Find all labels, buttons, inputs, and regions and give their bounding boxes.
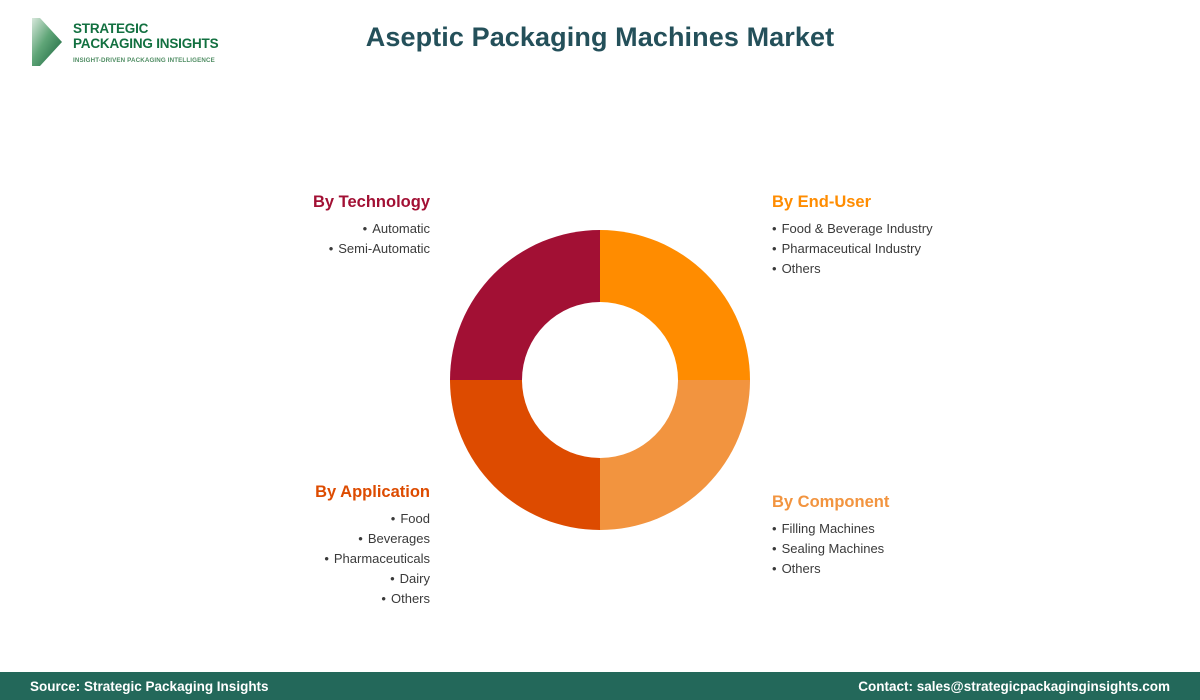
segment-title-application: By Application [190, 483, 430, 502]
segment-title-technology: By Technology [190, 193, 430, 212]
list-item: Pharmaceuticals [190, 549, 430, 569]
segment-title-end-user: By End-User [772, 193, 1072, 212]
donut-chart-svg [450, 230, 750, 530]
segment-list-technology: Automatic Semi-Automatic [190, 219, 430, 259]
donut-center-hole [522, 302, 678, 458]
list-item: Filling Machines [772, 519, 1072, 539]
donut-chart [450, 230, 750, 530]
list-item: Food & Beverage Industry [772, 219, 1072, 239]
segment-list-component: Filling Machines Sealing Machines Others [772, 519, 1072, 579]
segment-block-component: By Component Filling Machines Sealing Ma… [772, 493, 1072, 579]
list-item: Pharmaceutical Industry [772, 239, 1072, 259]
logo-tagline: INSIGHT-DRIVEN PACKAGING INTELLIGENCE [73, 57, 218, 64]
footer-source: Source: Strategic Packaging Insights [30, 679, 269, 694]
segment-title-component: By Component [772, 493, 1072, 512]
list-item: Dairy [190, 569, 430, 589]
list-item: Others [190, 589, 430, 609]
segment-block-application: By Application Food Beverages Pharmaceut… [190, 483, 430, 609]
footer-bar: Source: Strategic Packaging Insights Con… [0, 672, 1200, 700]
segment-block-end-user: By End-User Food & Beverage Industry Pha… [772, 193, 1072, 279]
list-item: Beverages [190, 529, 430, 549]
segment-list-application: Food Beverages Pharmaceuticals Dairy Oth… [190, 509, 430, 609]
list-item: Others [772, 259, 1072, 279]
list-item: Semi-Automatic [190, 239, 430, 259]
segment-list-end-user: Food & Beverage Industry Pharmaceutical … [772, 219, 1072, 279]
list-item: Others [772, 559, 1072, 579]
list-item: Food [190, 509, 430, 529]
list-item: Automatic [190, 219, 430, 239]
segment-block-technology: By Technology Automatic Semi-Automatic [190, 193, 430, 259]
list-item: Sealing Machines [772, 539, 1072, 559]
footer-contact: Contact: sales@strategicpackaginginsight… [858, 679, 1170, 694]
page-title: Aseptic Packaging Machines Market [0, 22, 1200, 53]
